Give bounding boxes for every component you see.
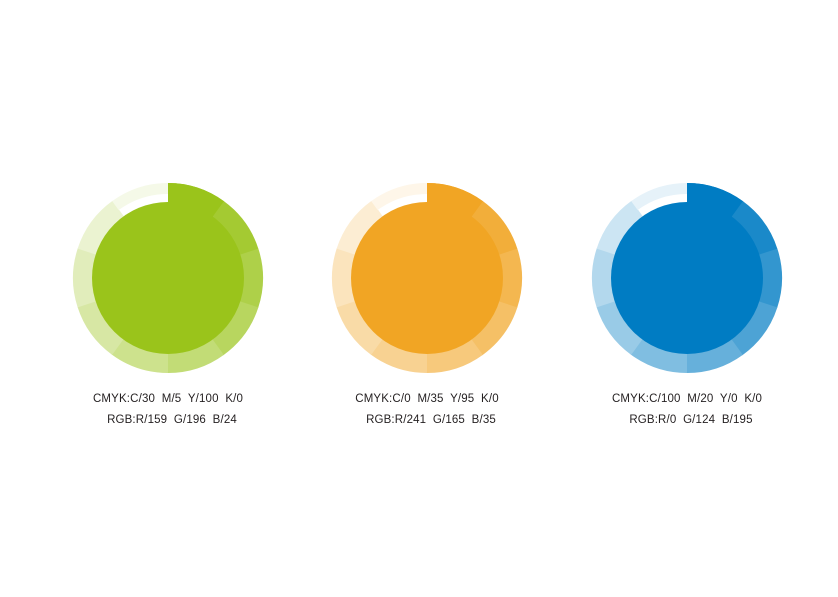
color-caption-green: CMYK:C/30 M/5 Y/100 K/0RGB:R/159 G/196 B… <box>28 389 308 431</box>
rgb-label-green: RGB:R/159 G/196 B/24 <box>28 410 308 431</box>
color-dial-orange <box>332 183 522 373</box>
color-caption-blue: CMYK:C/100 M/20 Y/0 K/0RGB:R/0 G/124 B/1… <box>547 389 827 431</box>
color-swatch-blue: CMYK:C/100 M/20 Y/0 K/0RGB:R/0 G/124 B/1… <box>547 0 827 597</box>
color-swatch-orange: CMYK:C/0 M/35 Y/95 K/0RGB:R/241 G/165 B/… <box>287 0 567 597</box>
palette-board: CMYK:C/30 M/5 Y/100 K/0RGB:R/159 G/196 B… <box>0 0 838 597</box>
rgb-label-blue: RGB:R/0 G/124 B/195 <box>547 410 827 431</box>
rgb-label-orange: RGB:R/241 G/165 B/35 <box>287 410 567 431</box>
cmyk-label-orange: CMYK:C/0 M/35 Y/95 K/0 <box>287 389 567 410</box>
color-caption-orange: CMYK:C/0 M/35 Y/95 K/0RGB:R/241 G/165 B/… <box>287 389 567 431</box>
cmyk-label-green: CMYK:C/30 M/5 Y/100 K/0 <box>28 389 308 410</box>
cmyk-label-blue: CMYK:C/100 M/20 Y/0 K/0 <box>547 389 827 410</box>
color-dial-green <box>73 183 263 373</box>
color-dial-blue <box>592 183 782 373</box>
color-swatch-green: CMYK:C/30 M/5 Y/100 K/0RGB:R/159 G/196 B… <box>28 0 308 597</box>
